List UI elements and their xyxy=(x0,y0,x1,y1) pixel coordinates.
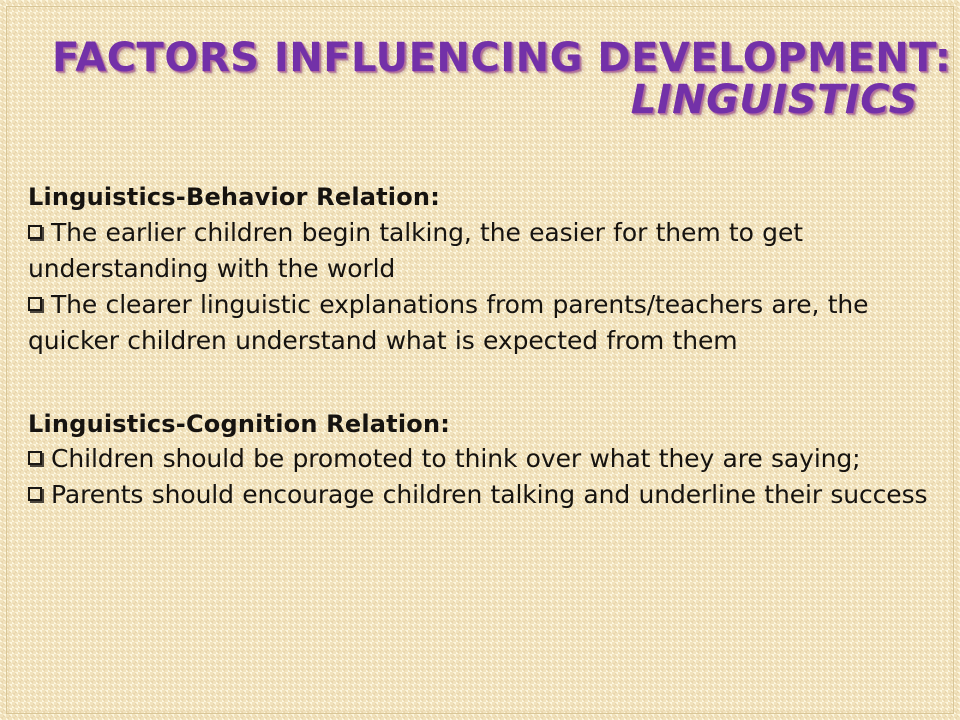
bullet-text: Parents should encourage children talkin… xyxy=(51,480,927,509)
square-bullet-icon xyxy=(28,297,42,311)
bullet-item: Children should be promoted to think ove… xyxy=(28,441,928,477)
slide-title: FACTORS INFLUENCING DEVELOPMENT: LINGUIS… xyxy=(52,38,918,121)
square-bullet-icon xyxy=(28,487,42,501)
bullet-item: Parents should encourage children talkin… xyxy=(28,477,928,513)
bullet-text: The clearer linguistic explanations from… xyxy=(28,290,868,355)
presentation-slide: FACTORS INFLUENCING DEVELOPMENT: LINGUIS… xyxy=(0,0,960,720)
bullet-item: The clearer linguistic explanations from… xyxy=(28,287,928,359)
bullet-text: The earlier children begin talking, the … xyxy=(28,218,803,283)
section-heading-cognition: Linguistics-Cognition Relation: xyxy=(28,407,928,442)
square-bullet-icon xyxy=(28,451,42,465)
title-line-1: FACTORS INFLUENCING DEVELOPMENT: xyxy=(52,38,918,80)
square-bullet-icon xyxy=(28,225,42,239)
section-linguistics-cognition: Linguistics-Cognition Relation: Children… xyxy=(28,407,928,514)
section-heading-behavior: Linguistics-Behavior Relation: xyxy=(28,180,928,215)
slide-body: Linguistics-Behavior Relation: The earli… xyxy=(28,180,928,513)
section-linguistics-behavior: Linguistics-Behavior Relation: The earli… xyxy=(28,180,928,359)
bullet-text: Children should be promoted to think ove… xyxy=(51,444,861,473)
section-spacer xyxy=(28,359,928,407)
title-line-2: LINGUISTICS xyxy=(52,80,918,122)
bullet-item: The earlier children begin talking, the … xyxy=(28,215,928,287)
